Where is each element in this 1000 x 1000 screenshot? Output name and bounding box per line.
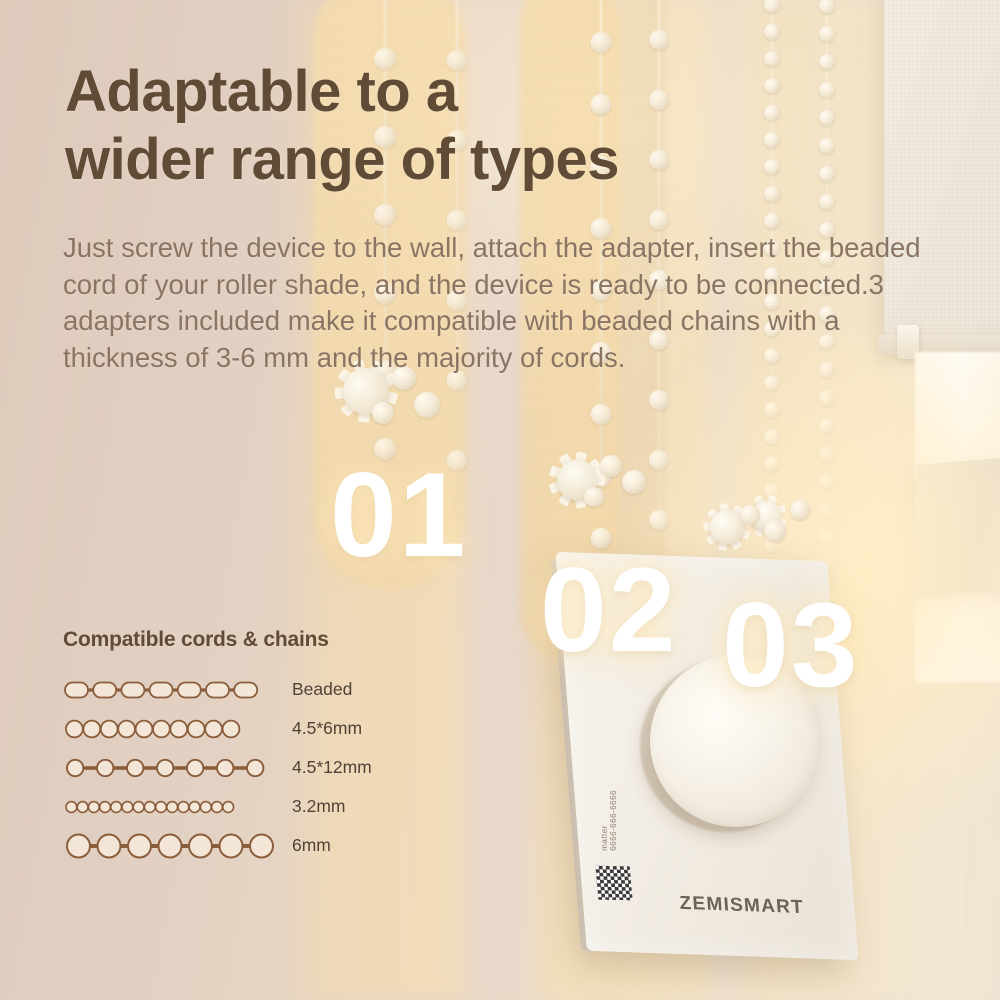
cords-panel-title: Compatible cords & chains — [63, 628, 463, 652]
chain-bead — [819, 54, 835, 70]
chain-bead — [819, 26, 835, 42]
chain-bead — [819, 0, 835, 14]
page-title: Adaptable to a wider range of types — [65, 58, 765, 195]
chain-bead — [649, 30, 669, 50]
chain-bead — [819, 138, 835, 154]
cord-row: 3.2mm — [63, 787, 463, 826]
cords-list: Beaded4.5*6mm4.5*12mm3.2mm6mm — [63, 670, 463, 865]
adapter-bead — [764, 520, 786, 542]
brand-logo: ZEMISMART — [679, 893, 805, 919]
chain-bead — [819, 110, 835, 126]
chain-bead — [764, 159, 780, 175]
compatible-cords-panel: Compatible cords & chains Beaded4.5*6mm4… — [63, 628, 463, 865]
matter-code: 6666-666-6666 — [609, 790, 618, 851]
cord-row: 4.5*12mm — [63, 748, 463, 787]
chain-bead — [764, 105, 780, 121]
ball-chain-32-icon — [63, 792, 278, 822]
adapter-bead — [740, 505, 760, 525]
chain-bead — [764, 51, 780, 67]
cord-label: 4.5*12mm — [292, 757, 372, 778]
ball-chain-45x6-icon — [63, 714, 278, 744]
matter-certification-text: matter 6666-666-6666 — [600, 790, 618, 851]
qr-code-icon — [595, 866, 632, 900]
chain-bead — [819, 166, 835, 182]
chain-bead — [764, 24, 780, 40]
chain-bead — [591, 404, 612, 425]
adapter-bead — [414, 392, 440, 418]
step-number-01: 01 — [330, 455, 467, 575]
chain-bead — [764, 0, 780, 13]
adapter-bead — [600, 455, 622, 477]
chain-bead — [764, 186, 780, 202]
cord-row: 4.5*6mm — [63, 709, 463, 748]
chain-bead — [764, 132, 780, 148]
beaded-chain-icon — [63, 675, 278, 705]
chain-bead — [764, 78, 780, 94]
body-description: Just screw the device to the wall, attac… — [63, 230, 923, 376]
adapter-bead — [790, 500, 810, 520]
chain-bead — [764, 213, 780, 229]
cord-row: Beaded — [63, 670, 463, 709]
cord-label: 4.5*6mm — [292, 718, 362, 739]
cord-label: 3.2mm — [292, 796, 345, 817]
ball-chain-45x12-icon — [63, 753, 278, 783]
cord-label: 6mm — [292, 835, 331, 856]
chain-bead — [649, 210, 669, 230]
cord-adapter-2 — [540, 443, 614, 517]
chain-bead — [447, 210, 468, 231]
step-number-02: 02 — [540, 550, 677, 670]
step-number-03: 03 — [722, 585, 859, 705]
chain-bead — [819, 82, 835, 98]
chain-bead — [374, 204, 396, 226]
adapter-bead — [622, 470, 646, 494]
chain-bead — [591, 32, 612, 53]
headline-line-2: wider range of types — [65, 126, 765, 194]
cord-label: Beaded — [292, 679, 352, 700]
product-marketing-image: matter 6666-666-6666 ZEMISMART Adaptable… — [0, 0, 1000, 1000]
cord-row: 6mm — [63, 826, 463, 865]
chain-bead — [819, 194, 835, 210]
adapter-bead — [584, 487, 604, 507]
adapter-bead — [372, 402, 394, 424]
matter-label: matter — [600, 790, 609, 851]
headline-line-1: Adaptable to a — [65, 58, 765, 126]
ball-chain-6-icon — [63, 831, 278, 861]
